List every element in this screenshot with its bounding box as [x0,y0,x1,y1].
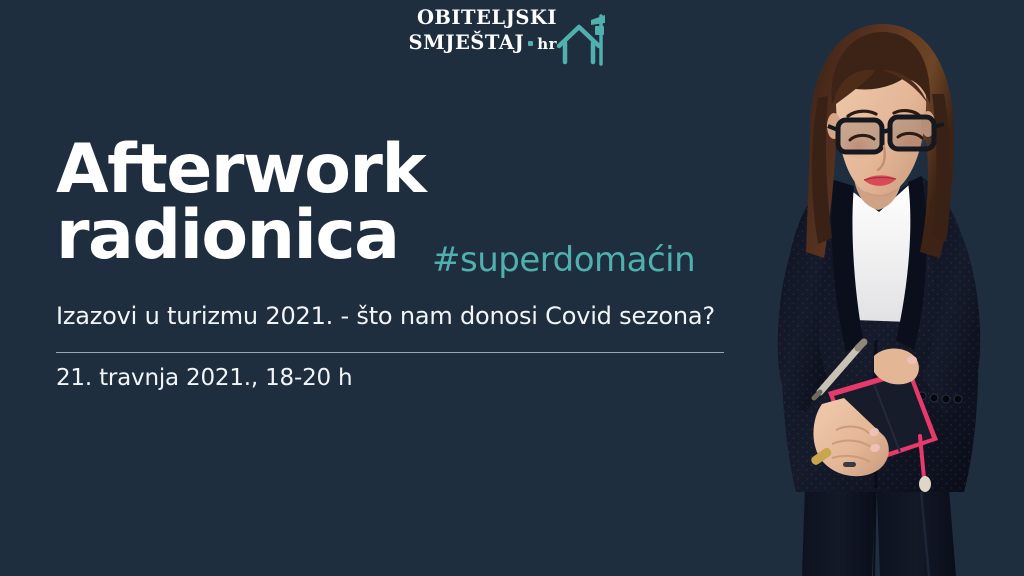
subtitle: Izazovi u turizmu 2021. - što nam donosi… [56,302,715,330]
divider-rule [56,352,735,353]
brand-logo[interactable]: OBITELJSKI SMJEŠTAJ hr [405,8,605,66]
logo-line-1: OBITELJSKI [405,8,557,28]
promo-banner: OBITELJSKI SMJEŠTAJ hr [0,0,1024,576]
woman-with-notebook-photo [724,0,1024,576]
headline-line-2: radionica [56,203,425,269]
headline-line-1: Afterwork [56,137,425,203]
hashtag-superdomacin: #superdomaćin [432,240,695,280]
logo-line-2-text: SMJEŠTAJ [409,33,525,53]
headline: Afterwork radionica [56,137,425,269]
house-roof-icon [555,10,611,66]
logo-line-2: SMJEŠTAJ hr [405,33,557,53]
photo-illustration [724,0,1024,576]
event-datetime: 21. travnja 2021., 18-20 h [56,365,352,391]
logo-separator-dot [528,41,533,46]
logo-wordmark: OBITELJSKI SMJEŠTAJ hr [405,8,557,52]
